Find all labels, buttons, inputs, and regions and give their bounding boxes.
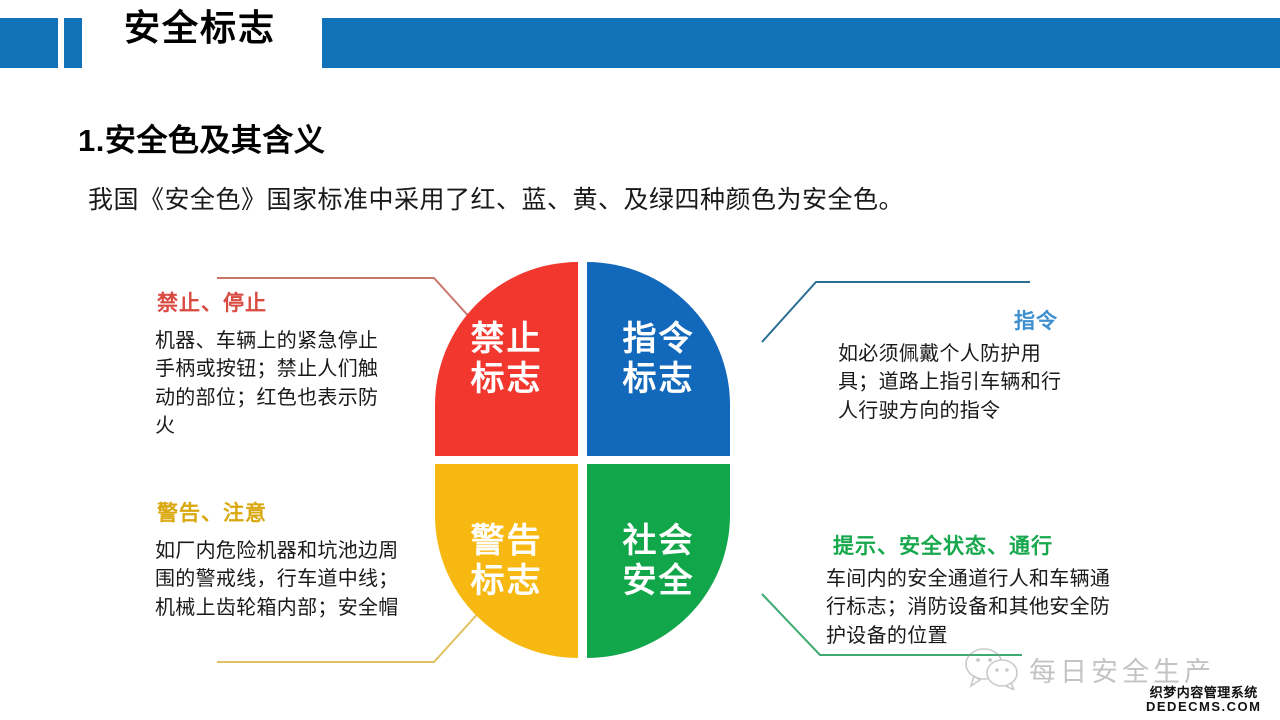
watermark: 每日安全生产 bbox=[965, 648, 1215, 690]
quadrant-warning-line1: 警告 bbox=[471, 521, 543, 561]
quadrant-warning-line2: 标志 bbox=[471, 561, 543, 601]
quadrant-prohibit[interactable]: 禁止 标志 bbox=[435, 262, 578, 456]
intro-paragraph: 我国《安全色》国家标准中采用了红、蓝、黄、及绿四种颜色为安全色。 bbox=[88, 180, 904, 216]
quadrant-warning[interactable]: 警告 标志 bbox=[435, 464, 578, 658]
callout-body-instruct: 如必须佩戴个人防护用具；道路上指引车辆和行人行驶方向的指令 bbox=[838, 340, 1068, 425]
dedecms-stamp: 织梦内容管理系统 DEDECMS.COM bbox=[1146, 686, 1261, 713]
quadrant-social-line2: 安全 bbox=[623, 561, 695, 601]
page-title: 安全标志 bbox=[124, 8, 276, 48]
quadrant-instruct-line2: 标志 bbox=[623, 359, 695, 399]
header-accent-block-tick bbox=[64, 18, 82, 68]
header-accent-block-left bbox=[0, 18, 58, 68]
callout-title-social: 提示、安全状态、通行 bbox=[833, 530, 1053, 560]
callout-body-prohibit: 机器、车辆上的紧急停止手柄或按钮；禁止人们触动的部位；红色也表示防火 bbox=[155, 327, 395, 441]
callout-title-instruct: 指令 bbox=[1014, 305, 1058, 335]
section-heading: 1.安全色及其含义 bbox=[78, 115, 325, 160]
callout-body-warning: 如厂内危险机器和坑池边周围的警戒线，行车道中线；机械上齿轮箱内部；安全帽 bbox=[155, 537, 410, 622]
quadrant-prohibit-line1: 禁止 bbox=[471, 319, 543, 359]
callout-title-warning: 警告、注意 bbox=[157, 497, 267, 527]
quadrant-social-line1: 社会 bbox=[623, 521, 695, 561]
header-accent-block-right bbox=[322, 18, 1280, 68]
dedecms-stamp-en: DEDECMS.COM bbox=[1146, 700, 1261, 714]
dedecms-stamp-cn: 织梦内容管理系统 bbox=[1146, 686, 1261, 700]
watermark-label: 每日安全生产 bbox=[1029, 650, 1215, 689]
callout-body-social: 车间内的安全通道行人和车辆通行标志；消防设备和其他安全防护设备的位置 bbox=[826, 565, 1116, 650]
quadrant-social[interactable]: 社会 安全 bbox=[587, 464, 730, 658]
quadrant-instruct-line1: 指令 bbox=[623, 319, 695, 359]
safety-color-wheel: 禁止 标志 指令 标志 警告 标志 社会 安全 bbox=[435, 262, 730, 658]
quadrant-instruct[interactable]: 指令 标志 bbox=[587, 262, 730, 456]
quadrant-prohibit-line2: 标志 bbox=[471, 359, 543, 399]
connector-instruct bbox=[762, 282, 1030, 342]
callout-title-prohibit: 禁止、停止 bbox=[157, 287, 267, 317]
wechat-icon bbox=[965, 648, 1019, 690]
